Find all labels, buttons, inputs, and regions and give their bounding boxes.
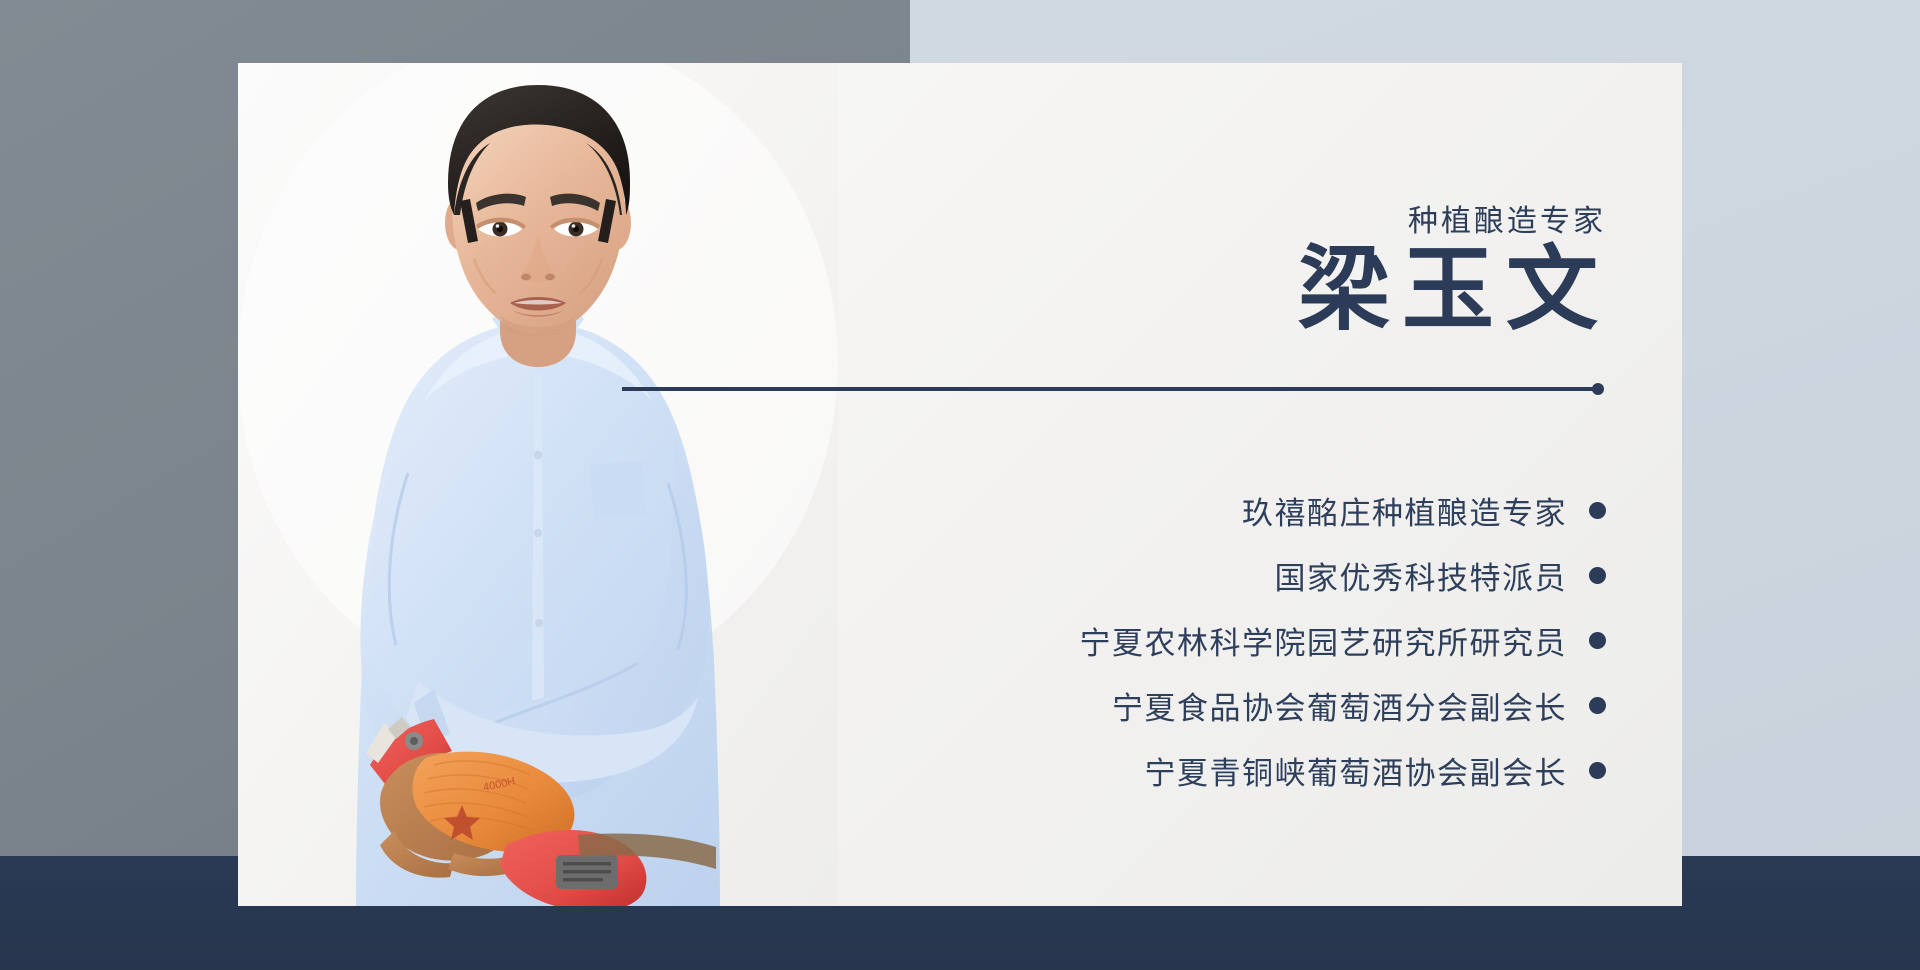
bullet-dot-icon [1589, 567, 1606, 584]
credential-text: 宁夏食品协会葡萄酒分会副会长 [1112, 683, 1567, 728]
bullet-dot-icon [1589, 697, 1606, 714]
person-name: 梁玉文 [1298, 241, 1610, 340]
list-item: 宁夏青铜峡葡萄酒协会副会长 [826, 738, 1606, 803]
bullet-dot-icon [1589, 632, 1606, 649]
credential-list: 玖禧酩庄种植酿造专家 国家优秀科技特派员 宁夏农林科学院园艺研究所研究员 宁夏食… [826, 478, 1606, 803]
portrait-illustration: 4000H [238, 63, 838, 906]
profile-card: 4000H [238, 63, 1682, 906]
text-column: 种植酿造专家 梁玉文 玖禧酩庄种植酿造专家 国家优秀科技特派员 宁夏农林科学院园… [826, 63, 1606, 906]
poster-stage: 4000H [0, 0, 1920, 970]
credential-text: 宁夏农林科学院园艺研究所研究员 [1080, 618, 1568, 663]
bullet-dot-icon [1589, 762, 1606, 779]
list-item: 玖禧酩庄种植酿造专家 [826, 478, 1606, 543]
portrait-photo: 4000H [238, 63, 838, 906]
list-item: 宁夏食品协会葡萄酒分会副会长 [826, 673, 1606, 738]
credential-text: 宁夏青铜峡葡萄酒协会副会长 [1145, 748, 1568, 793]
credential-text: 玖禧酩庄种植酿造专家 [1242, 488, 1567, 533]
list-item: 宁夏农林科学院园艺研究所研究员 [826, 608, 1606, 673]
bullet-dot-icon [1589, 502, 1606, 519]
eyebrow-title: 种植酿造专家 [1408, 196, 1606, 240]
list-item: 国家优秀科技特派员 [826, 543, 1606, 608]
credential-text: 国家优秀科技特派员 [1275, 553, 1568, 598]
